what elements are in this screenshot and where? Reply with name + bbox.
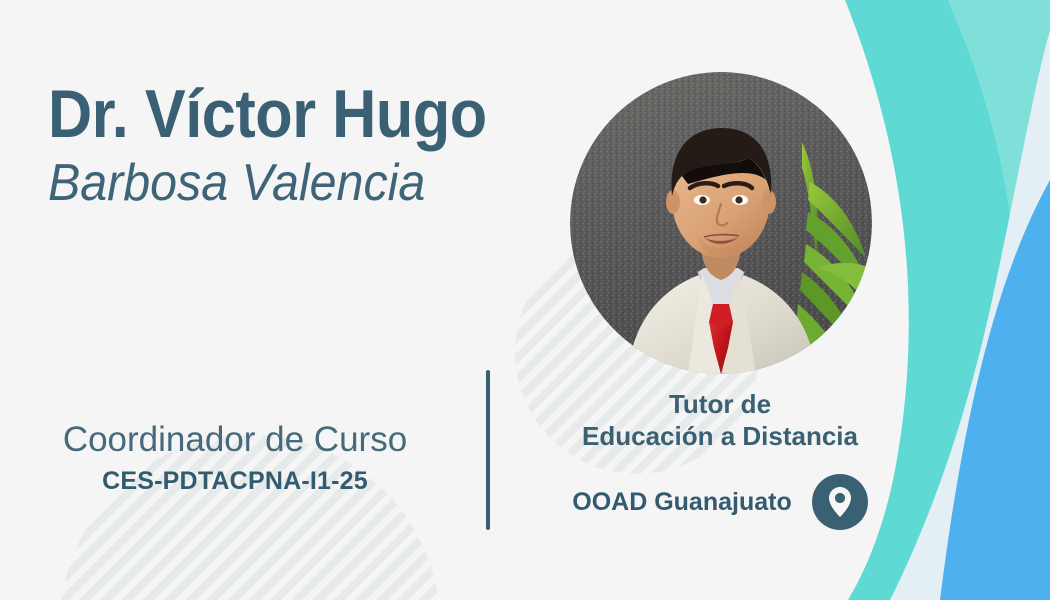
tutor-role-line-1: Tutor de	[520, 388, 920, 420]
name-line-1: Dr. Víctor Hugo	[48, 78, 516, 150]
course-role-block: Coordinador de Curso CES-PDTACPNA-I1-25	[0, 418, 470, 498]
course-role-title: Coordinador de Curso	[0, 418, 470, 462]
arc-blue	[940, 300, 1050, 600]
arc-teal-light	[948, 0, 1050, 600]
location-pin-icon	[812, 474, 868, 530]
location-label: OOAD Guanajuato	[572, 488, 791, 517]
speaker-card: Dr. Víctor Hugo Barbosa Valencia Coordin…	[0, 0, 1050, 600]
tutor-role-block: Tutor de Educación a Distancia	[520, 388, 920, 452]
tutor-role-line-2: Educación a Distancia	[520, 420, 920, 452]
portrait-photo	[570, 72, 872, 374]
arc-blue-body	[940, 180, 1050, 600]
course-code: CES-PDTACPNA-I1-25	[0, 464, 470, 498]
vertical-divider	[486, 370, 490, 530]
name-line-2: Barbosa Valencia	[48, 154, 532, 212]
speaker-name: Dr. Víctor Hugo Barbosa Valencia	[48, 78, 568, 212]
location-row: OOAD Guanajuato	[520, 474, 920, 530]
